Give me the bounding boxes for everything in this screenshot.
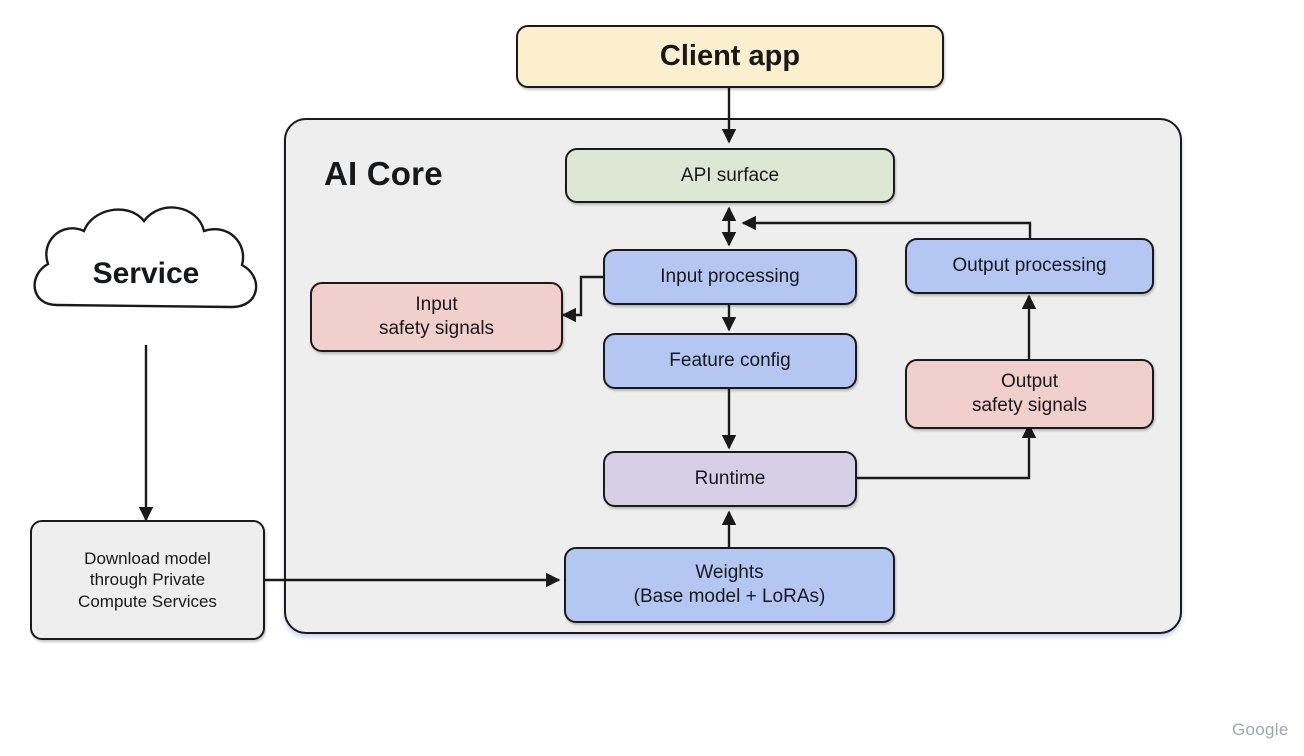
service-cloud-label: Service bbox=[20, 257, 272, 291]
input-processing-node[interactable]: Input processing bbox=[603, 249, 857, 305]
output-safety-signals-label: Output safety signals bbox=[972, 370, 1087, 418]
google-watermark: Google bbox=[1232, 720, 1289, 740]
runtime-label: Runtime bbox=[695, 467, 766, 491]
output-processing-node[interactable]: Output processing bbox=[905, 238, 1154, 294]
edge-runtime-to-output-safety-signals bbox=[857, 425, 1029, 478]
client-app-node[interactable]: Client app bbox=[516, 25, 944, 88]
api-surface-label: API surface bbox=[681, 164, 779, 188]
feature-config-label: Feature config bbox=[669, 349, 790, 373]
client-app-label: Client app bbox=[660, 38, 800, 74]
input-processing-label: Input processing bbox=[660, 265, 799, 289]
input-safety-signals-node[interactable]: Input safety signals bbox=[310, 282, 563, 352]
feature-config-node[interactable]: Feature config bbox=[603, 333, 857, 389]
download-model-node[interactable]: Download model through Private Compute S… bbox=[30, 520, 265, 640]
output-safety-signals-node[interactable]: Output safety signals bbox=[905, 359, 1154, 429]
edge-input-processing-to-input-safety-signals bbox=[563, 277, 603, 315]
download-model-label: Download model through Private Compute S… bbox=[78, 548, 217, 612]
runtime-node[interactable]: Runtime bbox=[603, 451, 857, 507]
input-safety-signals-label: Input safety signals bbox=[379, 293, 494, 341]
weights-node[interactable]: Weights (Base model + LoRAs) bbox=[564, 547, 895, 623]
output-processing-label: Output processing bbox=[952, 254, 1106, 278]
weights-label: Weights (Base model + LoRAs) bbox=[634, 561, 826, 609]
service-cloud-node[interactable]: Service bbox=[20, 205, 272, 350]
diagram-canvas: AI Core bbox=[0, 0, 1304, 756]
api-surface-node[interactable]: API surface bbox=[565, 148, 895, 203]
